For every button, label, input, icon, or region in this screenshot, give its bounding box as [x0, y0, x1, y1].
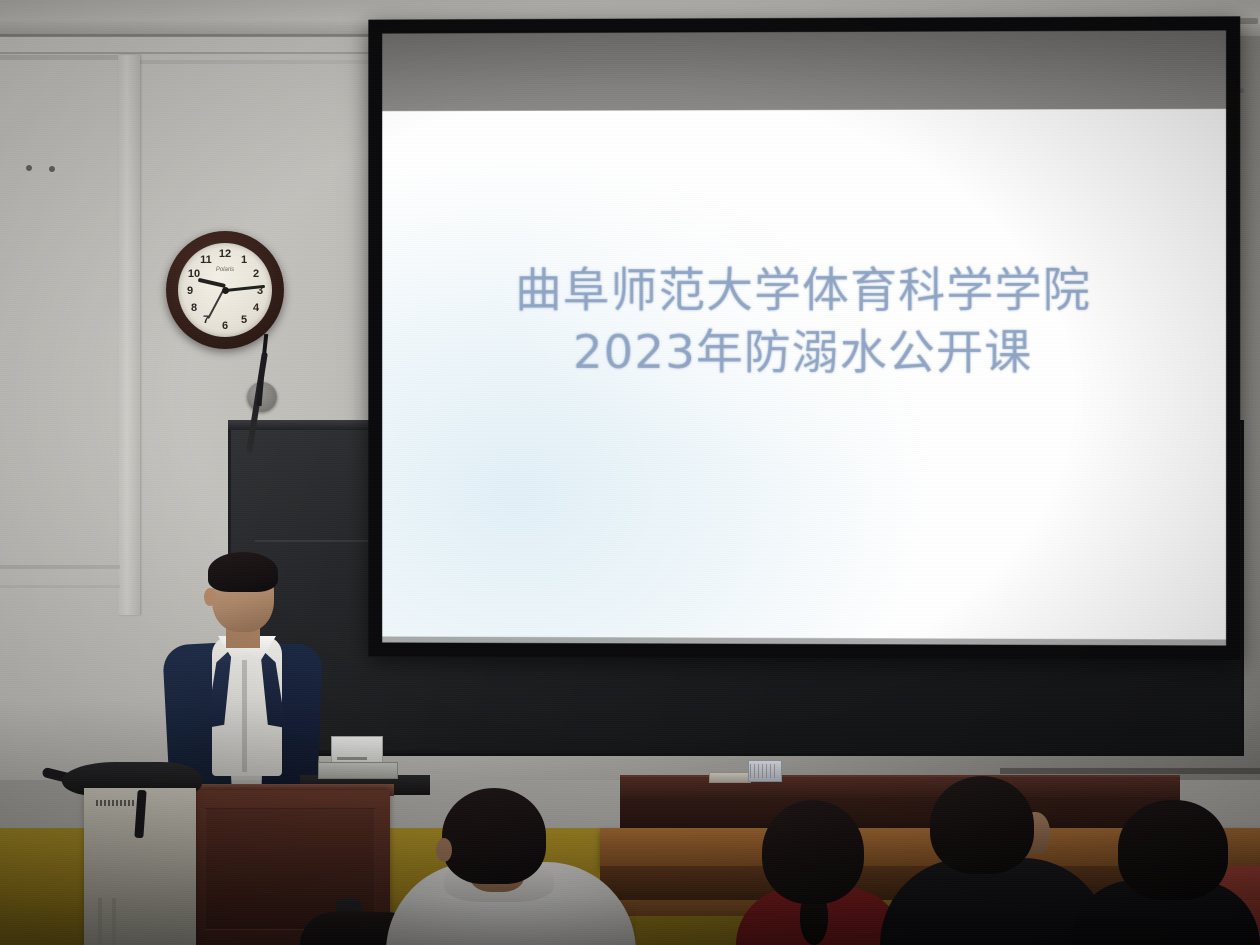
wall-clock: Polaris 12 1 2 3 4 5 6 7 8 9 10 11 [166, 231, 284, 349]
clock-numeral-5: 5 [237, 315, 251, 326]
wall-pillar [118, 55, 140, 615]
slide-title-line-2: 2023年防溺水公开课 [382, 322, 1226, 384]
lecture-hall-photo: 曲阜师范大学体育科学学院 2023年防溺水公开课 Polaris 12 1 2 … [0, 0, 1260, 945]
cabinet-label [96, 800, 136, 806]
student-white-hoodie-shadow [386, 896, 636, 945]
projection-screen: 曲阜师范大学体育科学学院 2023年防溺水公开课 [368, 16, 1240, 659]
student-white-hoodie-head [442, 788, 546, 884]
presenter-shirt-placket [242, 660, 247, 772]
slide-title-line-1: 曲阜师范大学体育科学学院 [515, 263, 1091, 318]
laptop-base[interactable] [318, 762, 398, 779]
clock-numeral-1: 1 [237, 255, 251, 266]
screen-unlit-band [382, 30, 1226, 111]
chalk-box-stripes [750, 764, 778, 778]
clock-numeral-6: 6 [218, 321, 232, 332]
clock-numeral-11: 11 [199, 255, 213, 266]
clock-numeral-8: 8 [187, 303, 201, 314]
clock-numeral-4: 4 [249, 303, 263, 314]
eraser-on-ledge[interactable] [709, 772, 751, 783]
projection-screen-surface: 曲阜师范大学体育科学学院 2023年防溺水公开课 [382, 30, 1226, 645]
projected-slide: 曲阜师范大学体育科学学院 2023年防溺水公开课 [382, 109, 1226, 646]
clock-face: Polaris 12 1 2 3 4 5 6 7 8 9 10 11 [178, 243, 272, 337]
wall-screw-hole [49, 166, 55, 172]
wall-panel-seam [0, 565, 120, 569]
wall-panel-seam-lower [0, 585, 120, 588]
presenter-hair [208, 552, 278, 592]
slide-title: 曲阜师范大学体育科学学院 2023年防溺水公开课 [382, 260, 1226, 385]
wall-rail-right [1000, 768, 1260, 774]
student-ponytail-head [762, 800, 864, 904]
student-white-hoodie-ear [436, 838, 452, 862]
clock-numeral-7: 7 [199, 315, 213, 326]
clock-numeral-12: 12 [218, 249, 232, 260]
clock-center-pin [222, 287, 229, 294]
student-dark-jacket-head [930, 776, 1034, 874]
presenter-ear [204, 588, 216, 606]
clock-numeral-2: 2 [249, 269, 263, 280]
chalk-ledge [620, 775, 1180, 799]
wall-screw-hole [26, 165, 32, 171]
cabinet-leg [98, 898, 102, 945]
ceiling-edge-line [0, 34, 370, 37]
laptop-hinge [337, 757, 367, 760]
ceiling-edge-line-secondary [0, 52, 372, 54]
cabinet-leg [112, 898, 116, 945]
student-right-edge-head [1118, 800, 1228, 900]
wall-rail-upper [140, 60, 370, 64]
wall-rail-left [0, 55, 130, 60]
clock-numeral-9: 9 [183, 286, 197, 297]
